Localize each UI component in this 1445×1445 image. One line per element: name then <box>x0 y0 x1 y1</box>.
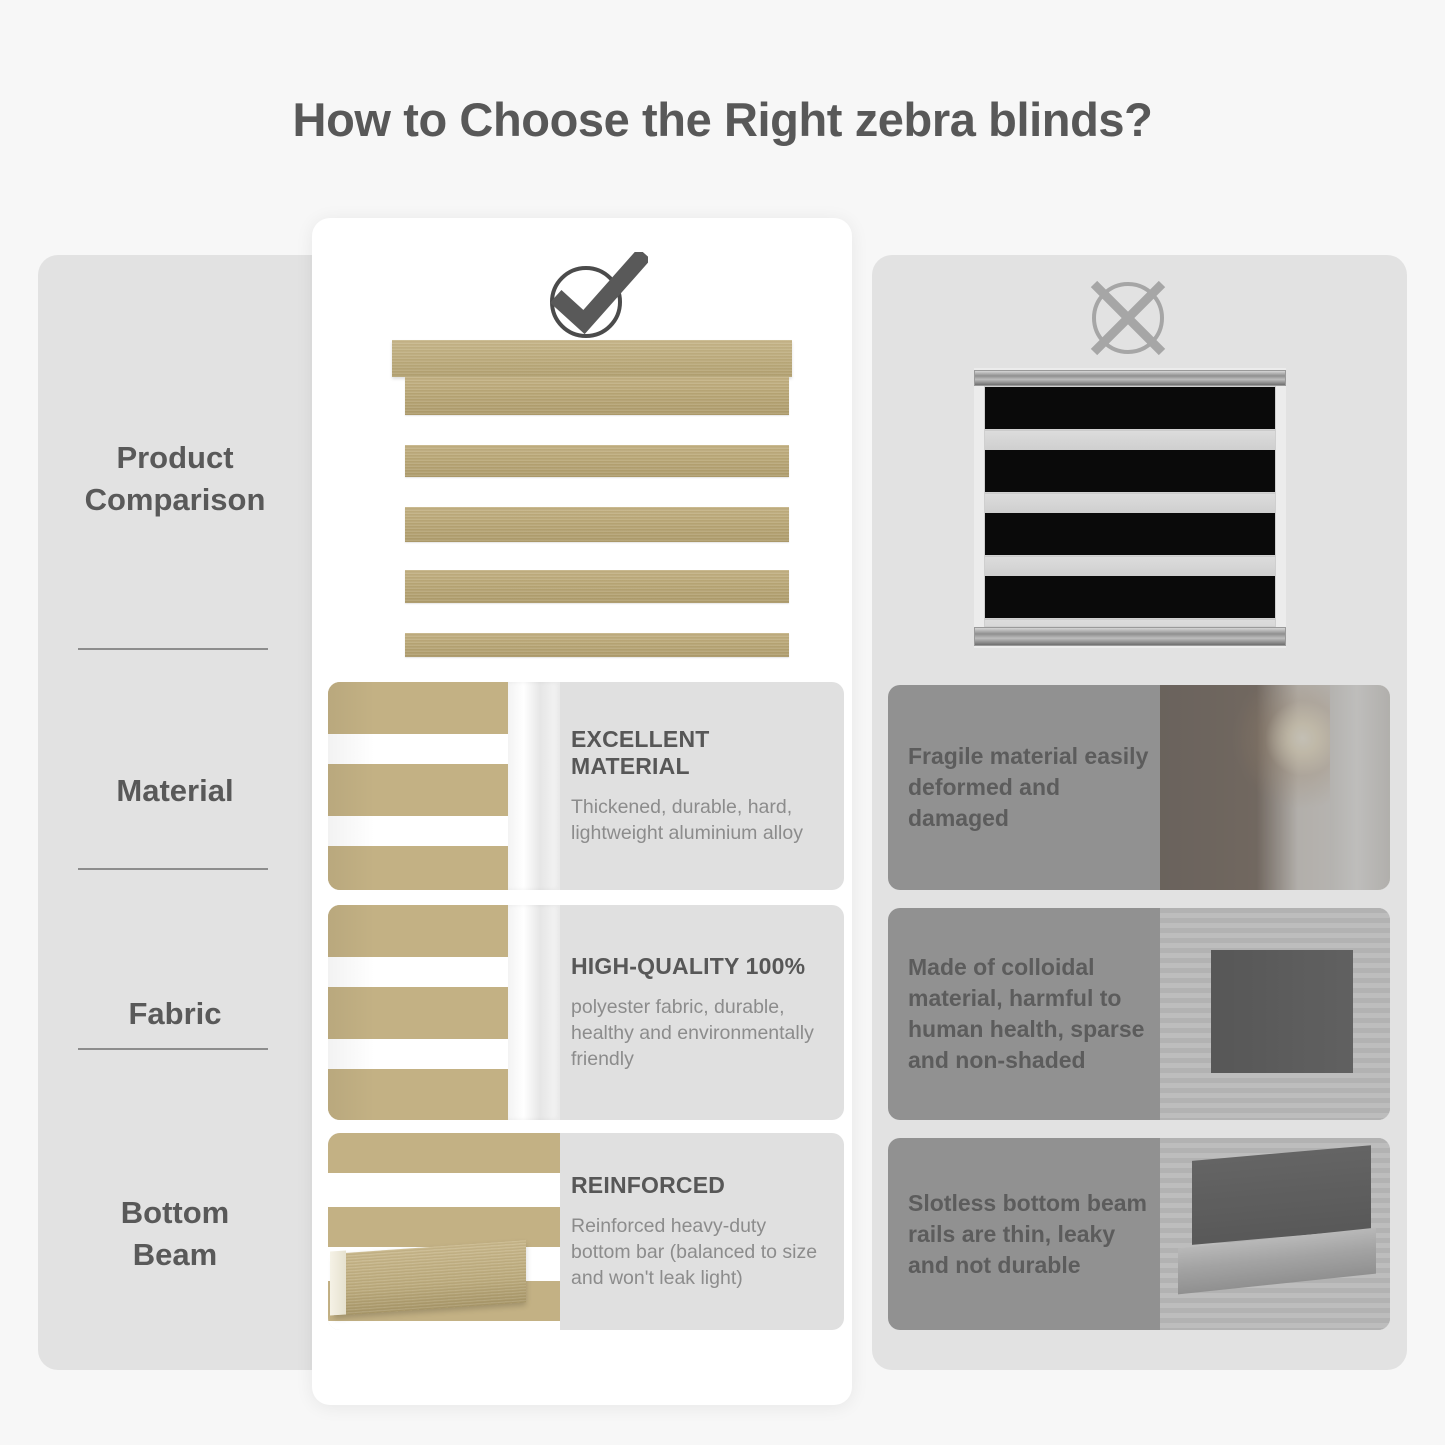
tan-zebra-blind-image <box>392 340 792 665</box>
blind-headrail <box>392 340 792 377</box>
drawback-card-bottom-beam: Slotless bottom beam rails are thin, lea… <box>888 1138 1390 1330</box>
feature-body: Thickened, durable, hard, lightweight al… <box>571 794 830 846</box>
feature-body: polyester fabric, durable, healthy and e… <box>571 994 830 1072</box>
row-divider <box>78 648 268 650</box>
photo-scrim <box>1160 1138 1390 1330</box>
row-label-material: Material <box>38 770 312 812</box>
feature-text-block: EXCELLENT MATERIAL Thickened, durable, h… <box>571 682 830 890</box>
tan-bottom-bar-photo <box>328 1133 560 1330</box>
blind-fabric <box>984 386 1276 627</box>
drawback-card-fabric: Made of colloidal material, harmful to h… <box>888 908 1390 1120</box>
blind-bottom-rail <box>974 627 1286 646</box>
drawback-card-material: Fragile material easily deformed and dam… <box>888 685 1390 890</box>
row-label-bottom-beam: Bottom Beam <box>38 1192 312 1276</box>
blind-headrail <box>974 370 1286 386</box>
blind-slat <box>405 445 789 477</box>
feature-heading: EXCELLENT MATERIAL <box>571 726 830 780</box>
thin-bottom-rail-photo <box>1160 1138 1390 1330</box>
window-frame <box>508 905 560 1120</box>
feature-card-fabric: HIGH-QUALITY 100% polyester fabric, dura… <box>328 905 844 1120</box>
feature-card-material: EXCELLENT MATERIAL Thickened, durable, h… <box>328 682 844 890</box>
feature-text-block: REINFORCED Reinforced heavy-duty bottom … <box>571 1133 830 1330</box>
blind-slat <box>405 377 789 415</box>
tan-blind-window-frame-photo <box>328 682 560 890</box>
drawback-text: Fragile material easily deformed and dam… <box>908 685 1158 890</box>
photo-scrim <box>1160 685 1390 890</box>
page-title: How to Choose the Right zebra blinds? <box>0 92 1445 147</box>
row-label-product-comparison: Product Comparison <box>38 437 312 521</box>
feature-body: Reinforced heavy-duty bottom bar (balanc… <box>571 1213 830 1291</box>
feature-heading: HIGH-QUALITY 100% <box>571 953 830 980</box>
row-label-fabric: Fabric <box>38 993 312 1035</box>
drawback-text: Made of colloidal material, harmful to h… <box>908 908 1158 1120</box>
cross-circle-icon <box>1082 272 1174 364</box>
black-sheer-blind-photo <box>1160 908 1390 1120</box>
blind-bottom-bar <box>405 633 789 657</box>
feature-heading: REINFORCED <box>571 1172 830 1199</box>
row-divider <box>78 1048 268 1050</box>
feature-card-bottom-beam: REINFORCED Reinforced heavy-duty bottom … <box>328 1133 844 1330</box>
tan-blind-fabric-photo <box>328 905 560 1120</box>
row-label-line1: Bottom <box>38 1192 312 1234</box>
black-zebra-blind-image <box>974 368 1286 648</box>
check-circle-icon <box>538 252 648 342</box>
row-label-line2: Comparison <box>38 479 312 521</box>
drawback-text: Slotless bottom beam rails are thin, lea… <box>908 1138 1158 1330</box>
sun-glare-window-photo <box>1160 685 1390 890</box>
row-divider <box>78 868 268 870</box>
feature-text-block: HIGH-QUALITY 100% polyester fabric, dura… <box>571 905 830 1120</box>
row-label-line2: Beam <box>38 1234 312 1276</box>
blind-slat <box>405 507 789 542</box>
row-label-line1: Product <box>38 437 312 479</box>
bottom-bar-endcap <box>330 1251 346 1316</box>
blind-slat <box>405 570 789 603</box>
photo-scrim <box>1160 908 1390 1120</box>
window-frame <box>508 682 560 890</box>
